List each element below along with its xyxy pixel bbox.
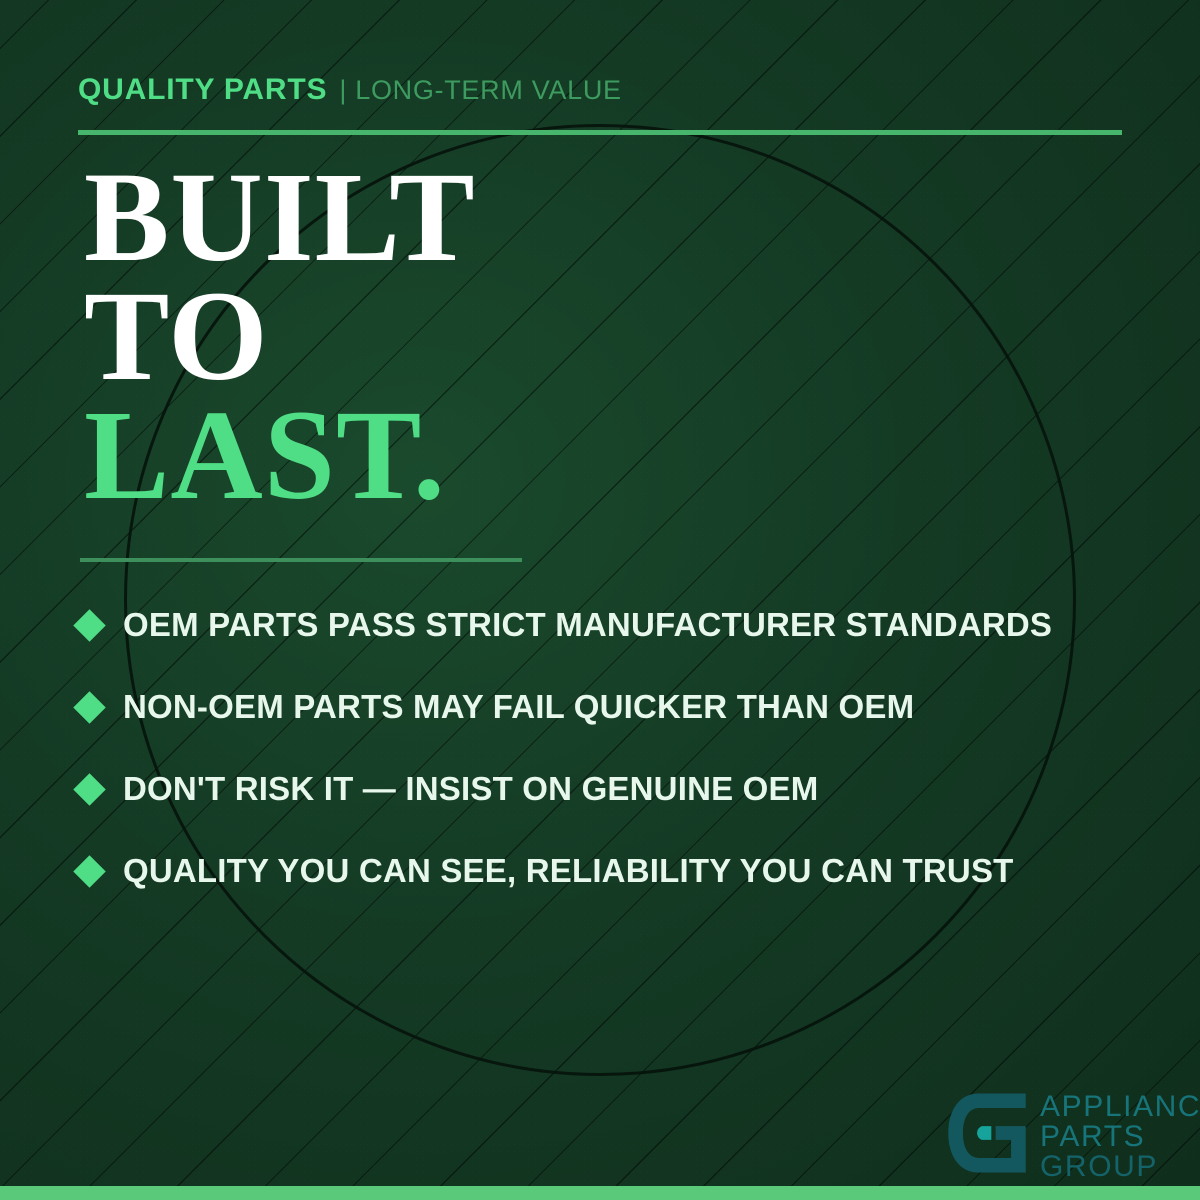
list-item-label: NON-OEM PARTS MAY FAIL QUICKER THAN OEM [123,688,914,726]
logo-word-appliance: APPLIANCE [1040,1092,1200,1122]
list-item: NON-OEM PARTS MAY FAIL QUICKER THAN OEM [78,666,1168,748]
benefits-list: OEM PARTS PASS STRICT MANUFACTURER STAND… [78,584,1168,912]
headline-line-3: LAST. [84,396,476,515]
bottom-accent-bar [0,1186,1200,1200]
eyebrow: QUALITY PARTS | LONG-TERM VALUE [78,73,622,107]
logo-word-parts: PARTS [1040,1122,1200,1152]
poster-canvas: QUALITY PARTS | LONG-TERM VALUE BUILT TO… [0,0,1200,1200]
diamond-icon [73,609,106,642]
page-title: BUILT TO LAST. [84,158,476,515]
diamond-icon [73,691,106,724]
list-item-label: QUALITY YOU CAN SEE, RELIABILITY YOU CAN… [123,852,1014,890]
list-item-label: OEM PARTS PASS STRICT MANUFACTURER STAND… [123,606,1052,644]
headline-line-2: TO [84,277,476,396]
g-monogram-icon [944,1090,1030,1176]
diamond-icon [73,855,106,888]
headline-line-1: BUILT [84,158,476,277]
list-item: DON'T RISK IT — INSIST ON GENUINE OEM [78,748,1168,830]
list-item-label: DON'T RISK IT — INSIST ON GENUINE OEM [123,770,818,808]
brand-logo: APPLIANCE PARTS GROUP [944,1088,1200,1182]
eyebrow-main-label: QUALITY PARTS [78,73,327,107]
headline-divider [80,558,522,562]
logo-word-group: GROUP [1040,1152,1200,1182]
brand-logo-wordmark: APPLIANCE PARTS GROUP [1040,1088,1200,1182]
list-item: OEM PARTS PASS STRICT MANUFACTURER STAND… [78,584,1168,666]
list-item: QUALITY YOU CAN SEE, RELIABILITY YOU CAN… [78,830,1168,912]
poster-content: QUALITY PARTS | LONG-TERM VALUE BUILT TO… [0,0,1200,1200]
diamond-icon [73,773,106,806]
header-rule [78,130,1122,135]
eyebrow-sub-label: | LONG-TERM VALUE [339,75,621,106]
